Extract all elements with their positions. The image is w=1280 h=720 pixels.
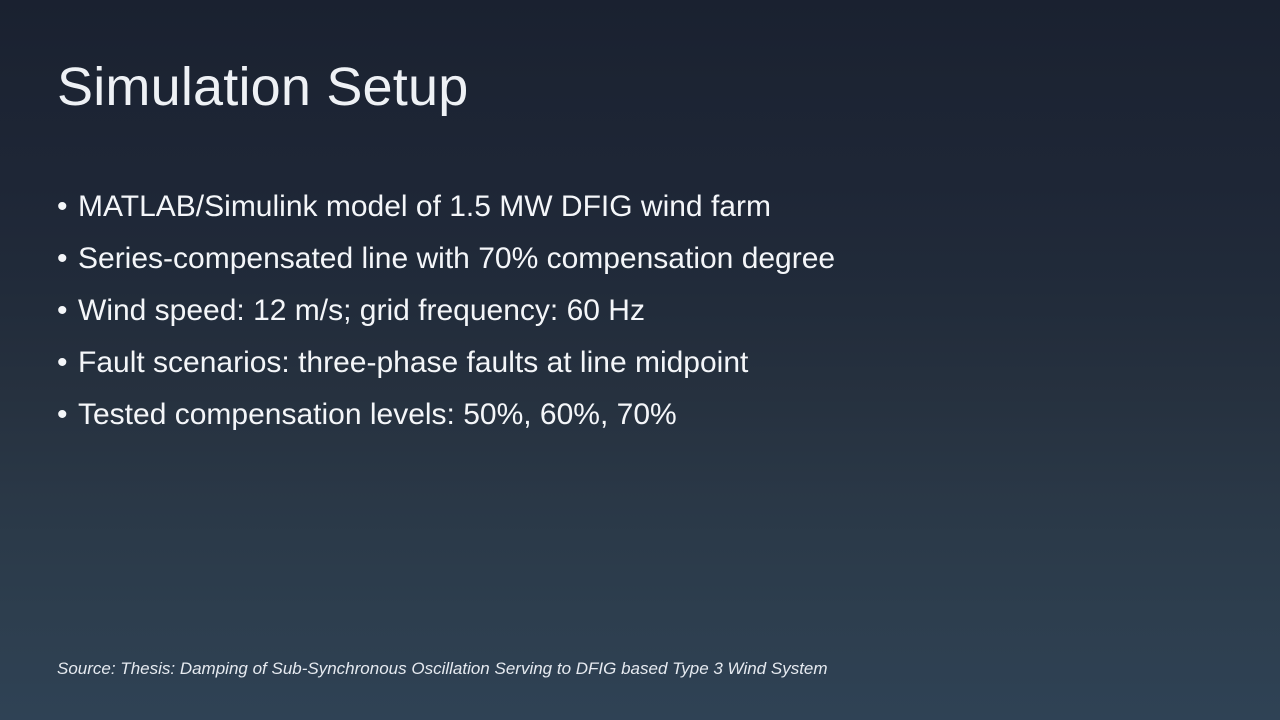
bullet-dot-icon: • xyxy=(57,394,78,436)
bullet-dot-icon: • xyxy=(57,290,78,332)
list-item-label: Series-compensated line with 70% compens… xyxy=(78,238,835,280)
source-citation: Source: Thesis: Damping of Sub-Synchrono… xyxy=(57,657,828,681)
bullet-dot-icon: • xyxy=(57,238,78,280)
list-item: • Tested compensation levels: 50%, 60%, … xyxy=(57,394,1177,446)
list-item: • Series-compensated line with 70% compe… xyxy=(57,238,1177,290)
presentation-slide: Simulation Setup • MATLAB/Simulink model… xyxy=(0,0,1280,720)
list-item-label: Fault scenarios: three-phase faults at l… xyxy=(78,342,748,384)
list-item-label: Tested compensation levels: 50%, 60%, 70… xyxy=(78,394,677,436)
list-item: • Fault scenarios: three-phase faults at… xyxy=(57,342,1177,394)
page-title: Simulation Setup xyxy=(57,56,468,118)
bullet-dot-icon: • xyxy=(57,342,78,384)
list-item-label: MATLAB/Simulink model of 1.5 MW DFIG win… xyxy=(78,186,771,228)
list-item: • Wind speed: 12 m/s; grid frequency: 60… xyxy=(57,290,1177,342)
list-item-label: Wind speed: 12 m/s; grid frequency: 60 H… xyxy=(78,290,645,332)
bullet-dot-icon: • xyxy=(57,186,78,228)
bullet-list: • MATLAB/Simulink model of 1.5 MW DFIG w… xyxy=(57,186,1177,446)
list-item: • MATLAB/Simulink model of 1.5 MW DFIG w… xyxy=(57,186,1177,238)
